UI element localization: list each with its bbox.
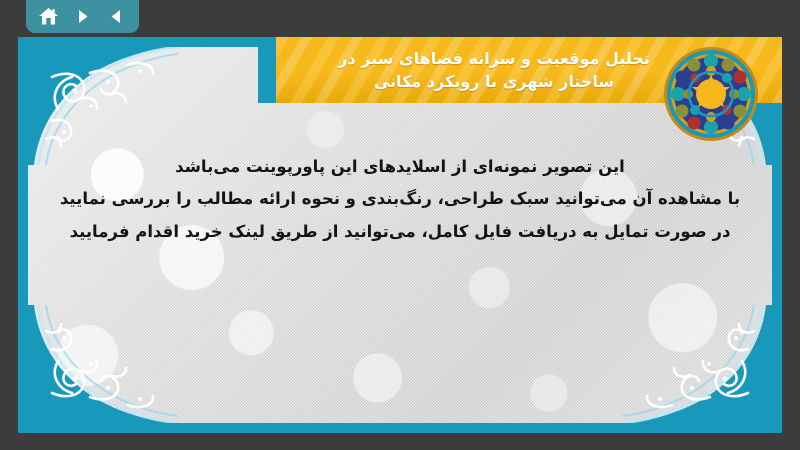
banner-accent-tab xyxy=(258,37,276,103)
home-icon xyxy=(38,7,59,26)
islamic-medallion-icon xyxy=(662,45,760,143)
body-line: این تصویر نمونه‌ای از اسلایدهای این پاور… xyxy=(58,155,742,178)
slide-canvas: تحلیل موقعیت و سرانه فضاهای سبز در ساختا… xyxy=(18,37,782,433)
body-line: در صورت تمایل به دریافت فایل کامل، می‌تو… xyxy=(58,220,742,243)
previous-slide-button[interactable] xyxy=(103,4,129,30)
frame-border-bottom xyxy=(18,423,782,433)
page-title: تحلیل موقعیت و سرانه فضاهای سبز در ساختا… xyxy=(338,47,650,93)
slide-body-text: این تصویر نمونه‌ای از اسلایدهای این پاور… xyxy=(58,155,742,252)
next-slide-button[interactable] xyxy=(70,4,96,30)
triangle-left-icon xyxy=(108,8,125,25)
navigation-toolbar xyxy=(26,0,139,33)
title-line-1: تحلیل موقعیت و سرانه فضاهای سبز در xyxy=(338,47,650,70)
frame-border-left xyxy=(18,37,28,433)
presentation-viewer: تحلیل موقعیت و سرانه فضاهای سبز در ساختا… xyxy=(0,0,800,450)
home-button[interactable] xyxy=(36,4,62,30)
body-line: با مشاهده آن می‌توانید سبک طراحی، رنگ‌بن… xyxy=(58,187,742,210)
title-line-2: ساختار شهری با رویکرد مکانی xyxy=(338,70,650,93)
triangle-right-icon xyxy=(74,8,91,25)
